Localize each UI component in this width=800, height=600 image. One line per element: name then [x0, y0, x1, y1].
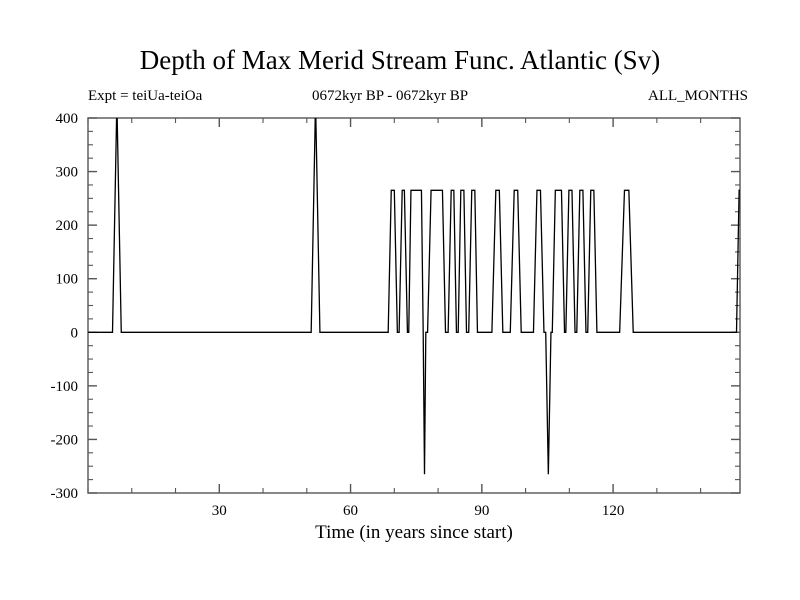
y-tick-label: 400	[56, 111, 79, 127]
series-group	[88, 102, 740, 474]
series-line	[88, 102, 740, 474]
plot-page: Depth of Max Merid Stream Func. Atlantic…	[0, 0, 800, 600]
y-tick-label: -100	[51, 379, 79, 395]
y-tick-label: 200	[56, 218, 79, 234]
y-tick-label: -300	[51, 486, 79, 502]
plot-frame	[88, 118, 740, 493]
y-tick-label: 100	[56, 272, 79, 288]
x-tick-label: 60	[343, 503, 358, 519]
timeseries-chart: -300-200-1000100200300400306090120	[0, 0, 800, 600]
chart-plot-area: -300-200-1000100200300400306090120	[0, 0, 800, 600]
y-tick-label: -200	[51, 432, 79, 448]
x-axis-title: Time (in years since start)	[88, 522, 740, 544]
y-tick-label: 0	[71, 325, 79, 341]
x-tick-label: 120	[602, 503, 625, 519]
x-tick-label: 30	[212, 503, 227, 519]
x-tick-label: 90	[474, 503, 489, 519]
y-tick-label: 300	[56, 165, 79, 181]
